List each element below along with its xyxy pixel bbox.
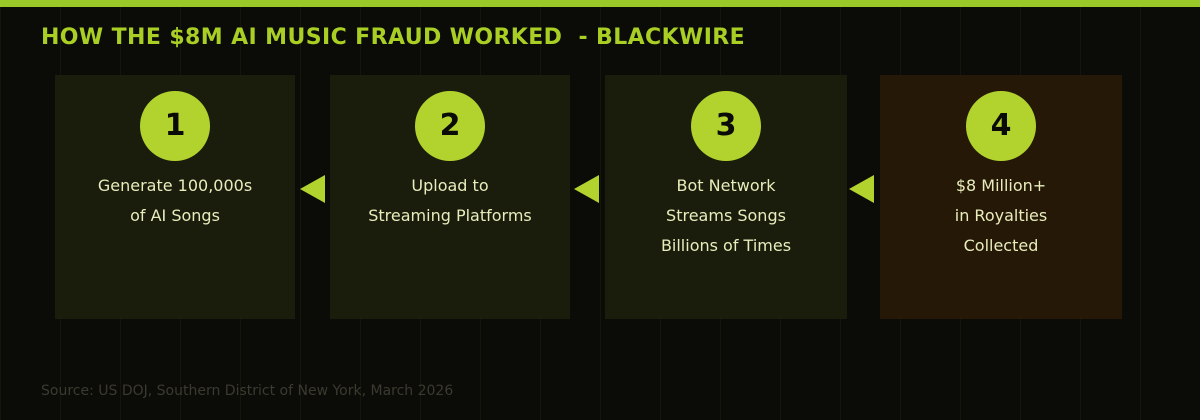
step-description-3: Bot Network Streams Songs Billions of Ti… [615, 171, 837, 261]
arrow-left-icon [300, 175, 325, 203]
step-description-2: Upload to Streaming Platforms [340, 171, 560, 231]
arrow-left-icon [849, 175, 874, 203]
step-text-line: of AI Songs [65, 201, 285, 231]
source-note: Source: US DOJ, Southern District of New… [41, 383, 453, 399]
step-number-badge: 3 [691, 91, 761, 161]
step-text-line: Bot Network [615, 171, 837, 201]
step-card-4: 4 $8 Million+ in Royalties Collected [880, 75, 1122, 319]
step-number-badge: 4 [966, 91, 1036, 161]
step-number-badge: 1 [140, 91, 210, 161]
step-text-line: in Royalties [890, 201, 1112, 231]
step-card-1: 1 Generate 100,000s of AI Songs [55, 75, 295, 319]
infographic-canvas: HOW THE $8M AI MUSIC FRAUD WORKED - BLAC… [0, 0, 1200, 420]
step-text-line: $8 Million+ [890, 171, 1112, 201]
step-text-line: Upload to [340, 171, 560, 201]
top-accent-bar [0, 0, 1200, 7]
step-text-line: Generate 100,000s [65, 171, 285, 201]
page-title: HOW THE $8M AI MUSIC FRAUD WORKED - BLAC… [41, 25, 745, 50]
step-card-3: 3 Bot Network Streams Songs Billions of … [605, 75, 847, 319]
step-number-badge: 2 [415, 91, 485, 161]
step-description-4: $8 Million+ in Royalties Collected [890, 171, 1112, 261]
step-card-2: 2 Upload to Streaming Platforms [330, 75, 570, 319]
step-text-line: Collected [890, 231, 1112, 261]
step-text-line: Streaming Platforms [340, 201, 560, 231]
step-description-1: Generate 100,000s of AI Songs [65, 171, 285, 231]
arrow-left-icon [574, 175, 599, 203]
step-text-line: Billions of Times [615, 231, 837, 261]
step-text-line: Streams Songs [615, 201, 837, 231]
